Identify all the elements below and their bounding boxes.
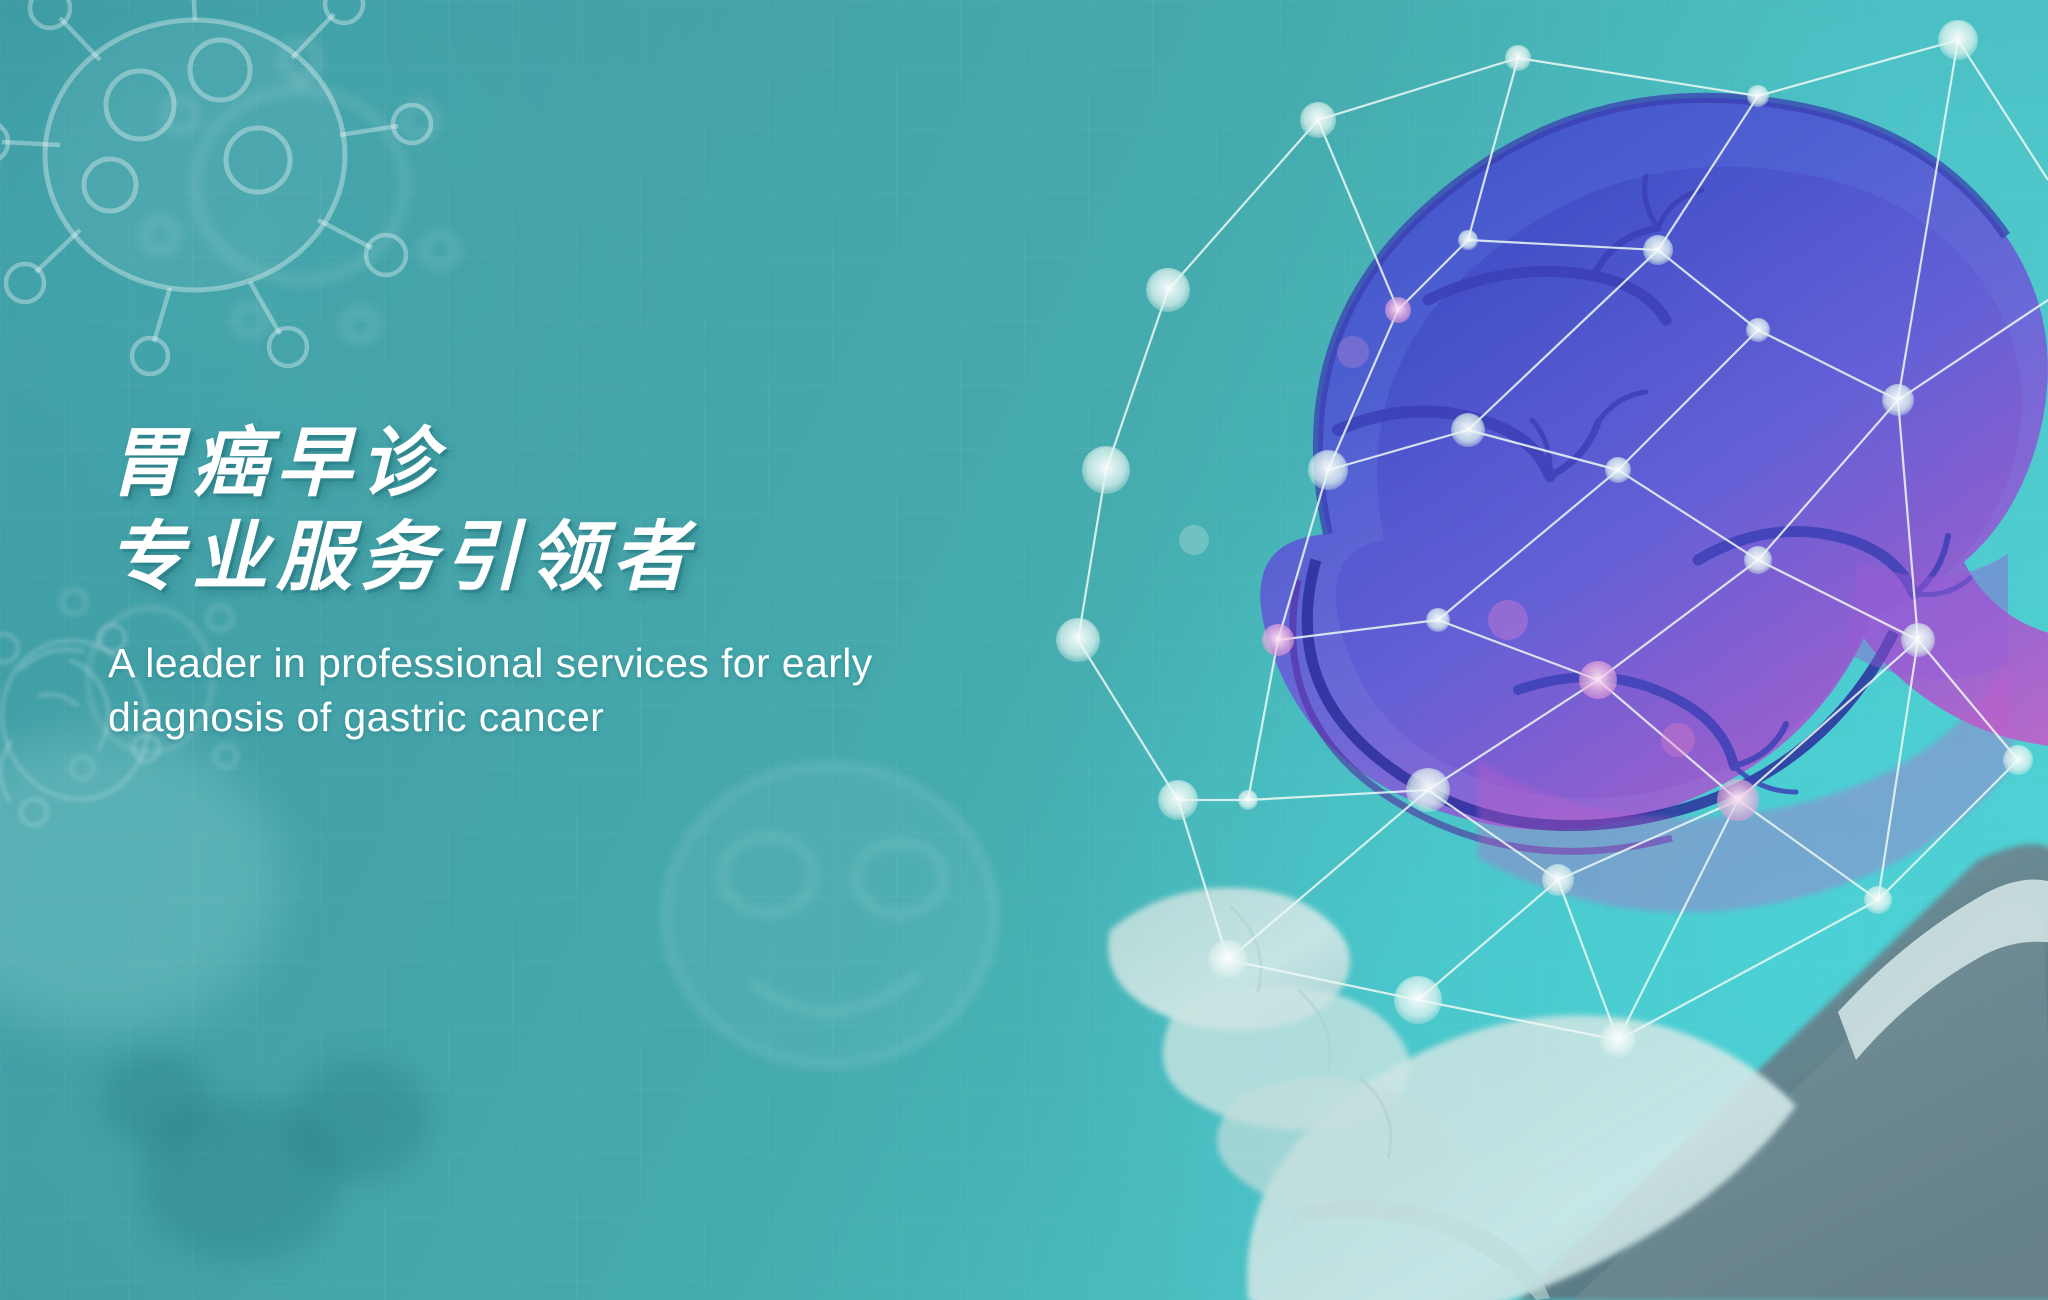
- ghost-cell-icon: [600, 700, 1060, 1130]
- stomach-network-graphic: [998, 0, 2048, 1300]
- hero-text-block: 胃癌早诊 专业服务引领者 A leader in professional se…: [108, 420, 1108, 745]
- hero-banner: 胃癌早诊 专业服务引领者 A leader in professional se…: [0, 0, 2048, 1300]
- light-wash: [0, 700, 440, 1120]
- stomach-shape: [1260, 98, 2048, 912]
- subheadline-line-1: A leader in professional services for ea…: [108, 636, 1108, 690]
- cell-shadow-blobs: [60, 980, 520, 1300]
- virus-top-left-icon: [0, 0, 460, 400]
- subheadline-line-2: diagnosis of gastric cancer: [108, 690, 1108, 744]
- virus-blur-icon: [120, 20, 480, 350]
- subheadline: A leader in professional services for ea…: [108, 636, 1108, 744]
- headline-line-1: 胃癌早诊: [108, 420, 1108, 508]
- hand-illustration: [1108, 844, 2048, 1300]
- headline-line-2: 专业服务引领者: [108, 514, 1108, 602]
